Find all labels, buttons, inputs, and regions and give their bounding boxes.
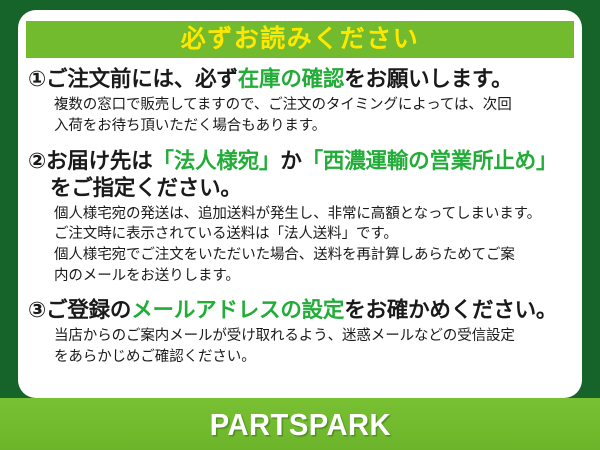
- notice-item-3-heading-highlight: メールアドレスの設定: [131, 298, 344, 322]
- notice-item-1-body: 複数の窓口で販売してますので、ご注文のタイミングによっては、次回 入荷をお待ち頂…: [28, 95, 574, 136]
- notice-item-2-number: ②: [28, 149, 46, 173]
- notice-item-2: ②お届け先は「法人様宛」か「西濃運輸の営業所止め」 をご指定ください。 個人様宅…: [28, 148, 574, 286]
- notice-item-3: ③ご登録のメールアドレスの設定をお確かめください。 当店からのご案内メールが受け…: [28, 297, 574, 367]
- content-panel: 必ずお読みください ①ご注文前には、必ず在庫の確認をお願いします。 複数の窓口で…: [18, 10, 582, 398]
- notice-item-3-body: 当店からのご案内メールが受け取れるよう、迷惑メールなどの受信設定 をあらかじめご…: [28, 326, 574, 367]
- notice-item-2-heading-part-1: お届け先は: [46, 149, 153, 173]
- notice-item-2-heading: ②お届け先は「法人様宛」か「西濃運輸の営業所止め」: [28, 148, 574, 174]
- notice-item-1-heading-part-1: ご注文前には、必ず: [46, 67, 238, 91]
- header-title: 必ずお読みください: [181, 27, 420, 52]
- notice-item-1-heading-highlight: 在庫の確認: [238, 67, 345, 91]
- notice-item-2-body: 個人様宅宛の発送は、追加送料が発生し、非常に高額となってしまいます。 ご注文時に…: [28, 204, 574, 286]
- header-band: 必ずお読みください: [26, 21, 574, 58]
- notice-item-1-heading-part-3: をお願いします。: [344, 67, 512, 91]
- notice-item-1-heading: ①ご注文前には、必ず在庫の確認をお願いします。: [28, 66, 574, 92]
- notice-banner: 必ずお読みください ①ご注文前には、必ず在庫の確認をお願いします。 複数の窓口で…: [0, 0, 600, 450]
- notice-item-1: ①ご注文前には、必ず在庫の確認をお願いします。 複数の窓口で販売してますので、ご…: [28, 66, 574, 136]
- notice-item-3-heading-part-3: をお確かめください。: [344, 298, 557, 322]
- notice-item-3-heading: ③ご登録のメールアドレスの設定をお確かめください。: [28, 297, 574, 323]
- notice-item-2-heading-highlight-1: 「法人様宛」: [153, 149, 281, 173]
- notice-item-2-heading-part-3: か: [280, 149, 301, 173]
- notice-item-3-heading-part-1: ご登録の: [46, 298, 131, 322]
- notice-item-2-heading-highlight-2: 「西濃運輸の営業所止め」: [302, 149, 558, 173]
- notice-list: ①ご注文前には、必ず在庫の確認をお願いします。 複数の窓口で販売してますので、ご…: [18, 66, 582, 370]
- brand-logo-text: PARTSPARK: [209, 409, 390, 440]
- notice-item-2-heading-line2: をご指定ください。: [28, 175, 574, 201]
- notice-item-1-number: ①: [28, 67, 46, 91]
- footer-bar: PARTSPARK: [0, 398, 600, 450]
- notice-item-3-number: ③: [28, 298, 46, 322]
